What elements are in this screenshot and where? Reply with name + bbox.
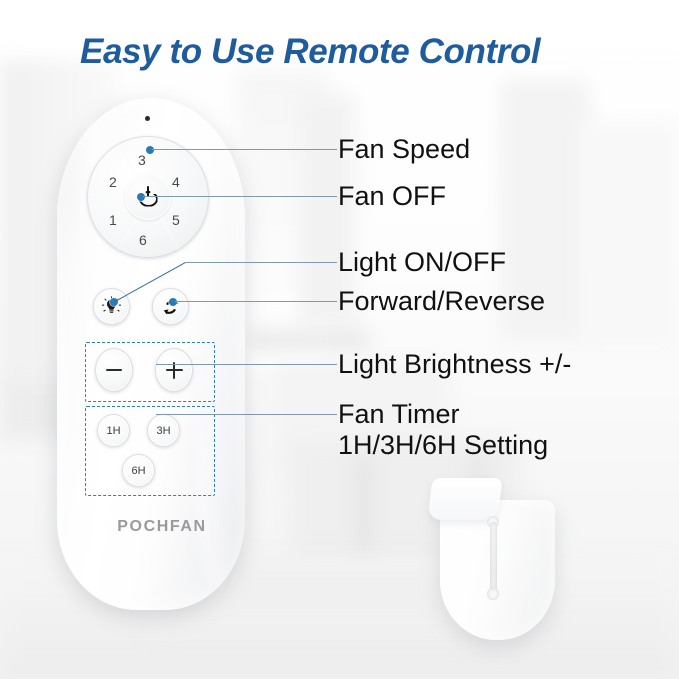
callout-label-fan-timer: Fan Timer 1H/3H/6H Setting [338, 399, 548, 462]
callout-leader-fan-off [143, 196, 337, 197]
callout-label-fan-timer-line1: Fan Timer [338, 399, 460, 429]
timer-button-6h[interactable]: 6H [122, 454, 155, 487]
holder-lip [427, 478, 502, 520]
minus-icon [106, 369, 122, 371]
timer-button-3h[interactable]: 3H [147, 414, 180, 447]
brightness-up-button[interactable] [155, 348, 193, 392]
page-title: Easy to Use Remote Control [80, 32, 540, 72]
wall-mount-holder [440, 500, 555, 640]
dial-speed-3[interactable]: 3 [138, 152, 146, 168]
dial-speed-6[interactable]: 6 [139, 232, 147, 248]
light-on-off-button[interactable] [93, 288, 130, 325]
callout-label-forward-reverse: Forward/Reverse [338, 286, 545, 317]
infographic-canvas: Easy to Use Remote Control 3 4 5 6 1 2 [0, 0, 679, 679]
dial-speed-4[interactable]: 4 [172, 174, 180, 190]
callout-label-brightness: Light Brightness +/- [338, 349, 571, 380]
callout-leader-brightness [156, 364, 337, 365]
callout-label-light-on-off: Light ON/OFF [338, 247, 506, 278]
callout-leader-forward-reverse [175, 301, 337, 302]
dial-speed-1[interactable]: 1 [109, 212, 117, 228]
callout-leader-light-on-off [185, 262, 337, 263]
callout-label-fan-off: Fan OFF [338, 181, 446, 212]
callout-label-fan-speed: Fan Speed [338, 134, 470, 165]
callout-label-fan-timer-line2: 1H/3H/6H Setting [338, 430, 548, 460]
callout-leader-fan-speed [152, 149, 337, 150]
brand-logo-text: POCHFAN [97, 518, 227, 536]
forward-reverse-button[interactable] [152, 288, 189, 325]
holder-screw-hole-bottom [487, 588, 499, 600]
bg-shape-window-right [580, 120, 679, 350]
timer-button-1h[interactable]: 1H [97, 414, 130, 447]
bg-shape-table-leg-left [355, 455, 373, 575]
callout-leader-timer [156, 414, 337, 415]
brightness-down-button[interactable] [95, 348, 133, 392]
holder-slot [490, 522, 497, 596]
bg-shape-shelf [250, 330, 370, 350]
remote-control-body: 3 4 5 6 1 2 [57, 98, 245, 610]
ir-led-icon [145, 116, 150, 121]
dial-speed-5[interactable]: 5 [172, 212, 180, 228]
dial-speed-2[interactable]: 2 [109, 174, 117, 190]
